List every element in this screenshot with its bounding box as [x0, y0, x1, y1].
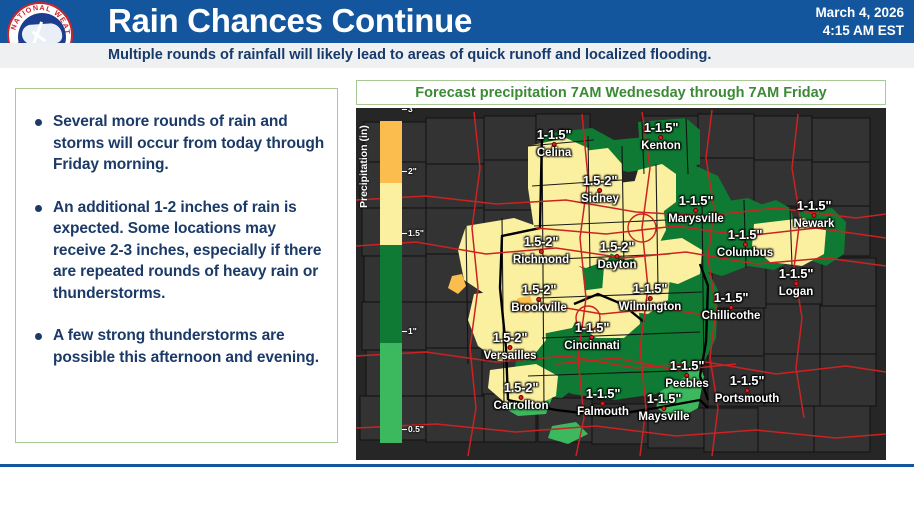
city-name: Carrollton: [494, 400, 549, 412]
bullet-list: Several more rounds of rain and storms w…: [32, 111, 327, 389]
map-label-marysville: 1-1.5"Marysville: [668, 193, 724, 225]
list-item: An additional 1-2 inches of rain is expe…: [32, 197, 327, 305]
colorbar-axis-label: Precipitation (in): [358, 125, 370, 208]
header-time: 4:15 AM EST: [815, 22, 904, 40]
colorbar-segment-1-5-2: [380, 183, 402, 245]
precip-value: 1-1.5": [577, 386, 629, 401]
bullet-text: A few strong thunderstorms are possible …: [53, 325, 327, 368]
colorbar-tick: 2": [402, 166, 417, 176]
city-name: Cincinnati: [564, 340, 620, 352]
map-title-bar: Forecast precipitation 7AM Wednesday thr…: [356, 80, 886, 105]
colorbar-tick: 1": [402, 326, 417, 336]
page-title: Rain Chances Continue: [108, 1, 472, 41]
page-subtitle: Multiple rounds of rainfall will likely …: [108, 45, 711, 66]
list-item: Several more rounds of rain and storms w…: [32, 111, 327, 176]
bullet-dot-icon: [35, 333, 42, 340]
city-name: Logan: [779, 286, 814, 298]
map-label-brookville: 1.5-2"Brookville: [511, 282, 567, 314]
map-label-portsmouth: 1-1.5"Portsmouth: [715, 373, 780, 405]
weather-graphic: NATIONAL WEATHER ★ ★ SERVICE ★ ★ Rain Ch…: [0, 0, 914, 514]
precip-value: 1-1.5": [779, 266, 814, 281]
colorbar-segment-0-5-1: [380, 343, 402, 443]
colorbar-tick: 3": [402, 108, 417, 114]
precip-value: 1-1.5": [668, 193, 724, 208]
city-name: Chillicothe: [702, 310, 761, 322]
precip-value: 1-1.5": [619, 281, 682, 296]
bullet-text: An additional 1-2 inches of rain is expe…: [53, 197, 327, 305]
precipitation-colorbar: [380, 121, 402, 443]
city-name: Portsmouth: [715, 393, 780, 405]
map-label-chillicothe: 1-1.5"Chillicothe: [702, 290, 761, 322]
precip-value: 1-1.5": [537, 127, 572, 142]
colorbar-tick-labels: 3" 2" 1.5" 1" 0.5": [402, 108, 462, 430]
header-timestamp: March 4, 2026 4:15 AM EST: [815, 4, 904, 40]
header-date: March 4, 2026: [815, 4, 904, 22]
map-label-celina: 1-1.5"Celina: [537, 127, 572, 159]
map-label-richmond: 1.5-2"Richmond: [513, 234, 569, 266]
map-title: Forecast precipitation 7AM Wednesday thr…: [415, 85, 826, 101]
precipitation-forecast-map: 3" 2" 1.5" 1" 0.5" Precipitation (in) 1-…: [356, 108, 886, 460]
key-messages-panel: Several more rounds of rain and storms w…: [15, 88, 338, 443]
city-name: Celina: [537, 147, 572, 159]
precip-value: 1-1.5": [702, 290, 761, 305]
map-label-cincinnati: 1-1.5"Cincinnati: [564, 320, 620, 352]
map-label-wilmington: 1-1.5"Wilmington: [619, 281, 682, 313]
precip-value: 1-1.5": [665, 358, 708, 373]
cloud-shape: [21, 23, 62, 46]
city-name: Marysville: [668, 213, 724, 225]
map-label-sidney: 1.5-2"Sidney: [581, 173, 619, 205]
map-label-kenton: 1-1.5"Kenton: [641, 120, 681, 152]
precip-value: 1.5-2": [598, 239, 637, 254]
precip-value: 1.5-2": [494, 380, 549, 395]
map-label-logan: 1-1.5"Logan: [779, 266, 814, 298]
precip-value: 1-1.5": [794, 198, 835, 213]
city-name: Maysville: [638, 411, 689, 423]
colorbar-segment-1-1-5: [380, 245, 402, 343]
city-name: Richmond: [513, 254, 569, 266]
precip-value: 1.5-2": [581, 173, 619, 188]
precip-value: 1-1.5": [641, 120, 681, 135]
city-name: Wilmington: [619, 301, 682, 313]
bullet-text: Several more rounds of rain and storms w…: [53, 111, 327, 176]
bullet-dot-icon: [35, 119, 42, 126]
city-name: Columbus: [717, 247, 773, 259]
map-label-versailles: 1.5-2"Versailles: [483, 330, 536, 362]
precip-value: 1.5-2": [513, 234, 569, 249]
colorbar-segment-2-3: [380, 121, 402, 183]
city-name: Dayton: [598, 259, 637, 271]
city-name: Falmouth: [577, 406, 629, 418]
map-label-newark: 1-1.5"Newark: [794, 198, 835, 230]
city-name: Brookville: [511, 302, 567, 314]
city-name: Newark: [794, 218, 835, 230]
city-name: Sidney: [581, 193, 619, 205]
map-label-columbus: 1-1.5"Columbus: [717, 227, 773, 259]
precip-value: 1-1.5": [717, 227, 773, 242]
colorbar-tick: 0.5": [402, 424, 424, 434]
precip-value: 1-1.5": [715, 373, 780, 388]
precip-value: 1.5-2": [511, 282, 567, 297]
bullet-dot-icon: [35, 205, 42, 212]
map-label-maysville: 1-1.5"Maysville: [638, 391, 689, 423]
map-label-carrollton: 1.5-2"Carrollton: [494, 380, 549, 412]
precip-value: 1-1.5": [638, 391, 689, 406]
footer: NOAA National Oceanic and Atmospheric Ad…: [0, 467, 914, 514]
map-label-peebles: 1-1.5"Peebles: [665, 358, 708, 390]
precip-value: 1.5-2": [483, 330, 536, 345]
city-name: Kenton: [641, 140, 681, 152]
city-name: Versailles: [483, 350, 536, 362]
map-label-falmouth: 1-1.5"Falmouth: [577, 386, 629, 418]
colorbar-tick: 1.5": [402, 228, 424, 238]
map-label-dayton: 1.5-2"Dayton: [598, 239, 637, 271]
precip-value: 1-1.5": [564, 320, 620, 335]
city-name: Peebles: [665, 378, 708, 390]
list-item: A few strong thunderstorms are possible …: [32, 325, 327, 368]
